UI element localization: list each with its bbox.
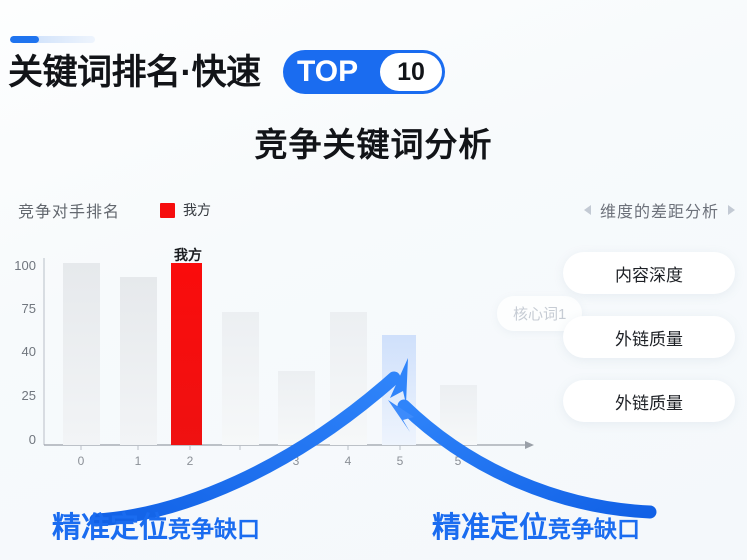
bar-chart: 100 75 40 25 0 <box>0 240 540 480</box>
svg-text:0: 0 <box>78 454 85 468</box>
chevron-right-icon[interactable] <box>728 205 735 215</box>
dimension-card-list: 内容深度 外链质量 外链质量 <box>563 252 735 422</box>
callout-right: 精准定位 竞争缺口 <box>432 504 640 546</box>
top-rank-badge[interactable]: TOP 10 <box>283 50 445 94</box>
highlight-bar-label: 我方 <box>160 245 216 265</box>
svg-text:75: 75 <box>22 301 36 316</box>
bar-5 <box>330 312 367 445</box>
callout-right-weak: 竞争缺口 <box>548 510 640 544</box>
callout-left-strong: 精准定位 <box>52 504 168 546</box>
svg-text:100: 100 <box>14 258 36 273</box>
svg-text:2: 2 <box>187 454 194 468</box>
callout-right-strong: 精准定位 <box>432 504 548 546</box>
x-axis-tickmarks <box>81 445 458 450</box>
dimension-panel-header: 维度的差距分析 <box>584 198 735 222</box>
top-badge-number: 10 <box>397 60 425 85</box>
dimension-panel-title: 维度的差距分析 <box>600 198 719 222</box>
bar-0 <box>63 263 100 445</box>
svg-text:40: 40 <box>22 344 36 359</box>
header-title: 关键词排名·快速 <box>8 55 261 90</box>
bar-1 <box>120 277 157 445</box>
bar-chart-svg: 100 75 40 25 0 <box>0 240 540 480</box>
svg-text:5: 5 <box>397 454 404 468</box>
svg-text:25: 25 <box>22 388 36 403</box>
callout-left-weak: 竞争缺口 <box>168 510 260 544</box>
legend-swatch-icon <box>160 203 175 218</box>
progress-bar-track <box>10 36 95 43</box>
dimension-card[interactable]: 外链质量 <box>563 316 735 358</box>
top-badge-circle: 10 <box>380 53 442 91</box>
callout-left: 精准定位 竞争缺口 <box>52 504 260 546</box>
bar-4 <box>278 371 315 445</box>
page-title: 竞争关键词分析 <box>0 118 747 166</box>
top-badge-label: TOP <box>297 57 358 87</box>
svg-text:4: 4 <box>345 454 352 468</box>
svg-text:1: 1 <box>135 454 142 468</box>
bar-3 <box>222 312 259 445</box>
dimension-card[interactable]: 外链质量 <box>563 380 735 422</box>
header: 关键词排名·快速 <box>8 48 261 96</box>
svg-text:3: 3 <box>293 454 300 468</box>
legend-title: 竞争对手排名 <box>18 198 120 222</box>
y-axis-ticks: 100 75 40 25 0 <box>14 258 36 447</box>
bar-7 <box>440 385 477 445</box>
chevron-left-icon[interactable] <box>584 205 591 215</box>
slide-canvas: 关键词排名·快速 TOP 10 竞争关键词分析 竞争对手排名 我方 维度的差距分… <box>0 0 747 560</box>
x-axis-arrow-icon <box>525 441 534 449</box>
chart-legend: 竞争对手排名 我方 <box>18 198 211 222</box>
dimension-card[interactable]: 内容深度 <box>563 252 735 294</box>
x-axis-ticks: 0 1 2 3 4 5 5 <box>78 454 462 468</box>
svg-text:5: 5 <box>455 454 462 468</box>
bar-2-mine <box>171 263 202 445</box>
legend-label-mine: 我方 <box>183 200 211 220</box>
progress-bar-fill <box>10 36 39 43</box>
bar-6-accent <box>382 335 416 445</box>
legend-item-mine: 我方 <box>160 200 211 220</box>
svg-text:0: 0 <box>29 432 36 447</box>
